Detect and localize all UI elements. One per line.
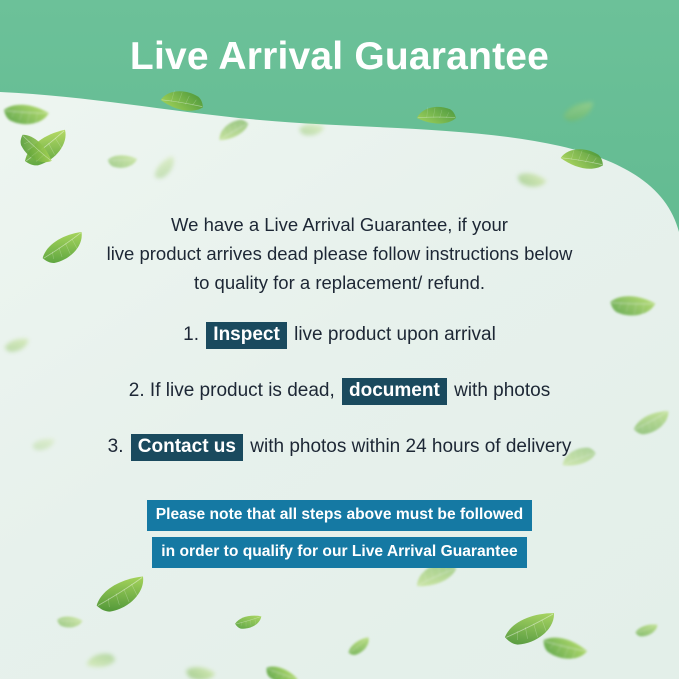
step-text-2-before: If live product is dead, (150, 380, 335, 401)
step-item-3: 3. Contact us with photos within 24 hour… (20, 432, 659, 462)
step-badge-document: document (342, 378, 447, 405)
main-content: We have a Live Arrival Guarantee, if you… (0, 0, 679, 679)
step-badge-inspect: Inspect (206, 322, 287, 349)
guarantee-graphic: Live Arrival Guarantee We have a Live Ar… (0, 0, 679, 679)
step-text-3: with photos within 24 hours of delivery (250, 436, 571, 457)
notice-line-2: in order to qualify for our Live Arrival… (152, 537, 526, 568)
intro-line-2: live product arrives dead please follow … (40, 239, 639, 268)
step-number-2: 2. (129, 380, 145, 401)
step-number-3: 3. (108, 436, 124, 457)
step-badge-contact-us: Contact us (131, 434, 243, 461)
notice-banner: Please note that all steps above must be… (0, 500, 679, 574)
step-item-2: 2. If live product is dead, document wit… (20, 376, 659, 406)
step-text-2-after: with photos (454, 380, 550, 401)
intro-paragraph: We have a Live Arrival Guarantee, if you… (40, 210, 639, 297)
notice-line-1: Please note that all steps above must be… (147, 500, 532, 531)
step-number-1: 1. (183, 324, 199, 345)
steps-list: 1. Inspect live product upon arrival 2. … (20, 320, 659, 488)
intro-line-3: to quality for a replacement/ refund. (40, 268, 639, 297)
step-text-1: live product upon arrival (294, 324, 496, 345)
intro-line-1: We have a Live Arrival Guarantee, if you… (40, 210, 639, 239)
step-item-1: 1. Inspect live product upon arrival (20, 320, 659, 350)
